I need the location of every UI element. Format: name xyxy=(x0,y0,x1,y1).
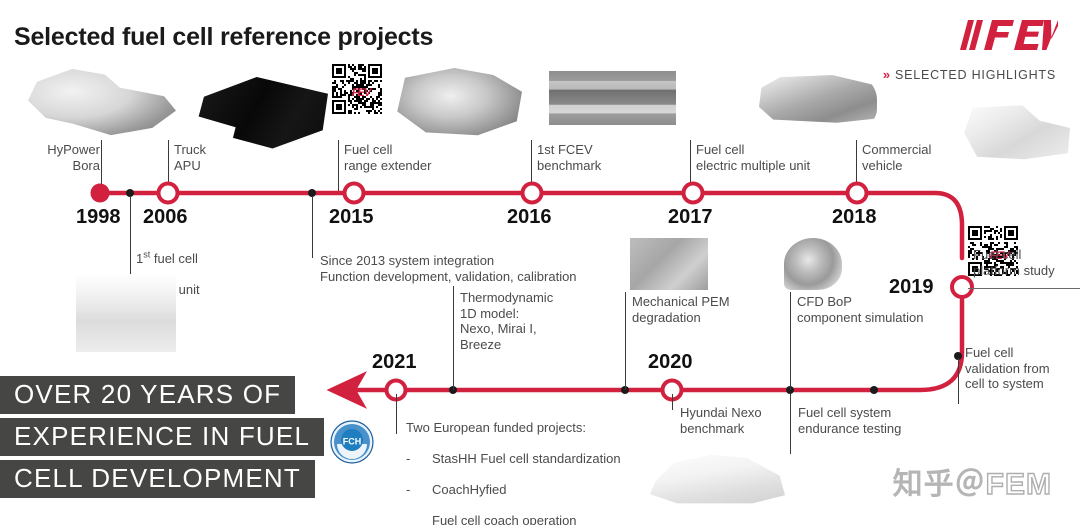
caption-truck-apu: Truck APU xyxy=(174,142,264,173)
bullet-text: CoachHyfied xyxy=(432,482,506,498)
qr-code-range-extender: FEV xyxy=(332,64,390,122)
highlights-text: SELECTED HIGHLIGHTS xyxy=(895,68,1056,82)
caption-fuel-cell-electric-multiple-unit: Fuel cell electric multiple unit xyxy=(696,142,856,173)
caption-mechanical-pem-degradation: Mechanical PEM degradation xyxy=(632,294,752,325)
fuel-cell-control-unit-image xyxy=(76,274,176,352)
caption-first-fcev-benchmark: 1st FCEV benchmark xyxy=(537,142,657,173)
truck-apu-image xyxy=(196,74,328,150)
page-title: Selected fuel cell reference projects xyxy=(14,23,433,52)
hypower-bora-image xyxy=(28,66,176,138)
selected-highlights-label: »SELECTED HIGHLIGHTS xyxy=(883,67,1056,82)
fev-logo xyxy=(958,14,1058,58)
caption-since-2013-system-integration: Since 2013 system integration Function d… xyxy=(320,253,650,284)
caption-fuel-cell-platform-study: Fuel cell platform study xyxy=(973,247,1079,278)
leader-line xyxy=(396,394,397,434)
leader-line xyxy=(338,140,339,192)
year-label-2021: 2021 xyxy=(372,351,417,374)
bullet-dash xyxy=(406,513,432,525)
bullet-text: Fuel cell coach operation xyxy=(432,513,577,525)
leader-line xyxy=(312,196,313,258)
leader-line xyxy=(672,394,673,410)
leader-line xyxy=(531,140,532,192)
watermark-name: FEM xyxy=(986,468,1052,501)
experience-banner: OVER 20 YEARS OF EXPERIENCE IN FUEL CELL… xyxy=(0,376,324,502)
leader-line xyxy=(690,140,691,192)
platform-study-underline xyxy=(968,288,1080,289)
leader-line xyxy=(453,286,454,390)
leader-line xyxy=(130,196,131,280)
double-chevron-right-icon: » xyxy=(883,67,891,82)
bullet-dash: - xyxy=(406,482,432,498)
mechanical-pem-degradation-image xyxy=(630,238,708,290)
watermark: 知乎＠FEM xyxy=(893,459,1052,503)
caption-fuel-cell-range-extender: Fuel cell range extender xyxy=(344,142,474,173)
watermark-at: ＠ xyxy=(955,468,986,501)
year-label-2016: 2016 xyxy=(507,206,552,229)
caption-thermodynamic-1d-model: Thermodynamic 1D model: Nexo, Mirai I, B… xyxy=(460,290,590,352)
fch-logo: FCH xyxy=(330,420,374,464)
commercial-vehicle-render xyxy=(962,104,1070,164)
leader-line xyxy=(790,292,791,390)
watermark-cn: 知乎 xyxy=(893,468,955,501)
year-label-2018: 2018 xyxy=(832,206,877,229)
caption-cfd-bop-component-simulation: CFD BoP component simulation xyxy=(797,294,947,325)
year-label-2006: 2006 xyxy=(143,206,188,229)
caption-commercial-vehicle: Commercial vehicle xyxy=(862,142,962,173)
first-fcev-benchmark-image xyxy=(549,71,676,125)
banner-line-3: CELL DEVELOPMENT xyxy=(0,460,315,498)
bullet-text: StasHH Fuel cell standardization xyxy=(432,451,621,467)
banner-line-1: OVER 20 YEARS OF xyxy=(0,376,295,414)
cfd-bop-component-image xyxy=(784,238,842,290)
year-label-2020: 2020 xyxy=(648,351,693,374)
year-label-2015: 2015 xyxy=(329,206,374,229)
leader-line xyxy=(856,140,857,192)
hydrogen-train-image xyxy=(759,74,877,127)
year-label-1998: 1998 xyxy=(76,206,121,229)
banner-line-2: EXPERIENCE IN FUEL xyxy=(0,418,324,456)
fuel-cell-range-extender-image xyxy=(392,68,522,138)
qr-fev-overlay: FEV xyxy=(351,87,372,99)
caption-hyundai-nexo-benchmark: Hyundai Nexo benchmark xyxy=(680,405,800,436)
slide-root: Selected fuel cell reference projects »S… xyxy=(0,0,1080,525)
svg-text:FCH: FCH xyxy=(343,437,362,447)
leader-line xyxy=(168,140,169,192)
caption-fuel-cell-validation: Fuel cell validation from cell to system xyxy=(965,345,1080,392)
eu-projects-bullet: - StasHH Fuel cell standardization xyxy=(406,451,706,467)
caption-hypower-bora: HyPower Bora xyxy=(26,142,100,173)
eu-projects-intro: Two European funded projects: xyxy=(406,420,706,436)
eu-projects-bullet: Fuel cell coach operation xyxy=(406,513,706,525)
leader-line xyxy=(958,358,959,404)
caption-line-1: 1st fuel cell xyxy=(136,251,198,266)
leader-line xyxy=(625,292,626,390)
bullet-dash: - xyxy=(406,451,432,467)
leader-line xyxy=(101,140,102,192)
caption-european-funded-projects: Two European funded projects: - StasHH F… xyxy=(406,404,706,525)
year-label-2017: 2017 xyxy=(668,206,713,229)
leader-line xyxy=(790,394,791,454)
caption-fuel-cell-system-endurance-testing: Fuel cell system endurance testing xyxy=(798,405,948,436)
